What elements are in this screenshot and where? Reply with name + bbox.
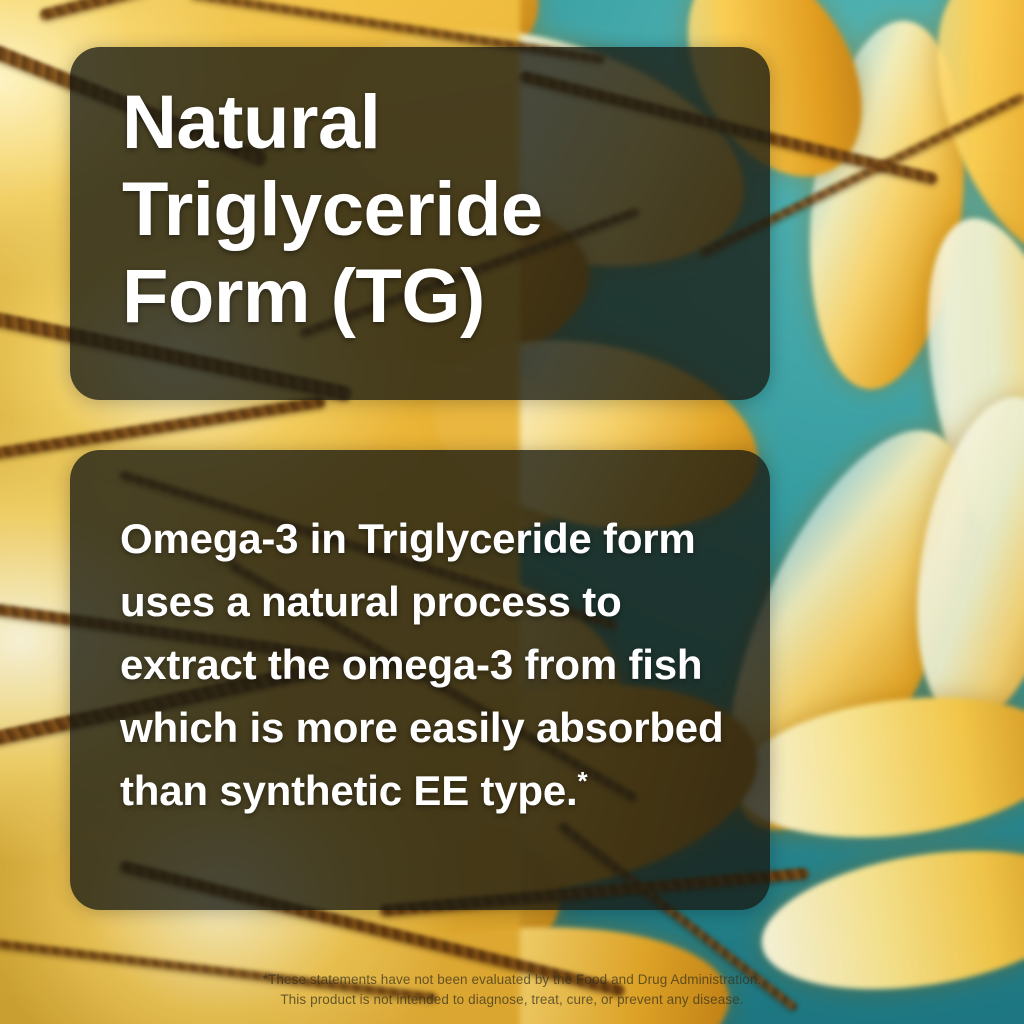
fda-disclaimer: *These statements have not been evaluate… <box>0 970 1024 1010</box>
title-panel: Natural Triglyceride Form (TG) <box>70 47 770 400</box>
footnote-marker: * <box>578 766 588 796</box>
disclaimer-line-2: This product is not intended to diagnose… <box>0 990 1024 1010</box>
description-text: Omega-3 in Triglyceride form uses a natu… <box>120 507 730 822</box>
page-title: Natural Triglyceride Form (TG) <box>122 79 543 340</box>
disclaimer-line-1: *These statements have not been evaluate… <box>0 970 1024 990</box>
product-info-card: Natural Triglyceride Form (TG) Omega-3 i… <box>0 0 1024 1024</box>
description-panel: Omega-3 in Triglyceride form uses a natu… <box>70 450 770 910</box>
description-paragraph: Omega-3 in Triglyceride form uses a natu… <box>120 515 723 814</box>
